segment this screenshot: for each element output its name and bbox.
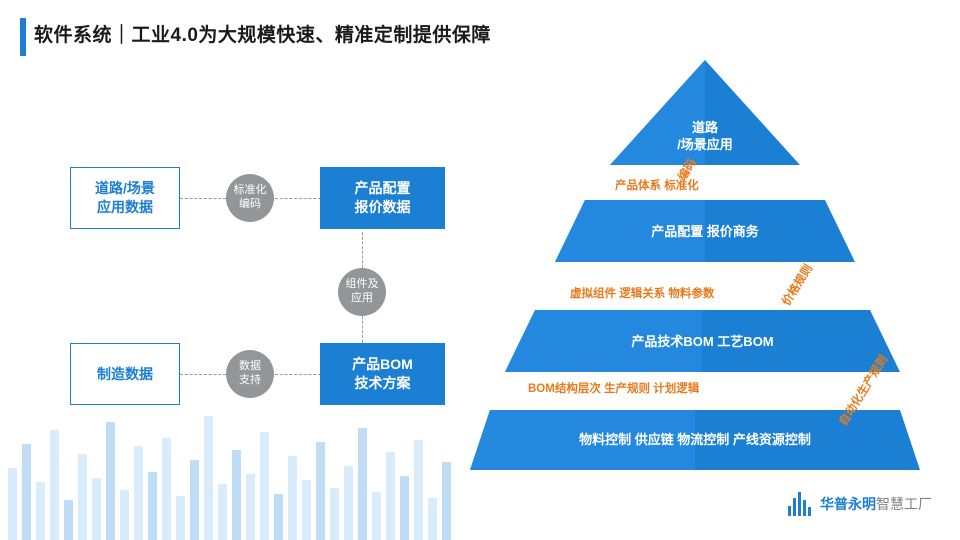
connector-label: 组件及 应用 [346,278,379,306]
connector-data-support[interactable]: 数据 支持 [226,350,274,398]
node-label: 道路/场景 应用数据 [95,179,155,217]
pyramid-annotation-2: 虚拟组件 逻辑关系 物料参数 [570,285,714,301]
pyramid-annotation-3: BOM结构层次 生产规则 计划逻辑 [528,380,699,396]
pyramid-side-label-price-rule: 价格规则 [778,261,816,308]
node-product-bom-tech[interactable]: 产品BOM 技术方案 [320,343,445,405]
connector-line-top-right [275,198,321,199]
node-product-config-quote-data[interactable]: 产品配置 报价数据 [320,167,445,229]
node-road-scene-data[interactable]: 道路/场景 应用数据 [70,167,180,229]
connector-standardization-coding[interactable]: 标准化 编码 [226,174,274,222]
decorative-bar-pattern [0,400,470,540]
logo-bars-icon [788,492,814,516]
pyramid-diagram: 道路 /场景应用 产品体系 标准化 产品配置 报价商务 虚拟组件 逻辑关系 物料… [470,60,940,490]
connector-line-mid-top [362,232,363,268]
pyramid-tier-2-label: 产品配置 报价商务 [555,224,855,241]
connector-label: 数据 支持 [239,360,261,388]
connector-line-bot-left [180,374,226,375]
node-manufacturing-data[interactable]: 制造数据 [70,343,180,405]
page-header: 软件系统｜工业4.0为大规模快速、精准定制提供保障 [0,18,960,64]
logo-sub: 智慧工厂 [876,496,932,512]
brand-logo: 华普永明智慧工厂 [788,492,932,516]
header-accent-bar [20,18,26,56]
pyramid-tier-1-label: 道路 /场景应用 [610,120,800,154]
node-label: 制造数据 [97,365,153,384]
connector-label: 标准化 编码 [234,184,267,212]
flow-diagram: 道路/场景 应用数据 产品配置 报价数据 制造数据 产品BOM 技术方案 标准化… [60,150,480,410]
node-label: 产品配置 报价数据 [355,179,411,217]
logo-text: 华普永明智慧工厂 [820,494,932,514]
pyramid-tier-4-label: 物料控制 供应链 物流控制 产线资源控制 [470,432,920,449]
connector-component-application[interactable]: 组件及 应用 [338,268,386,316]
logo-brand: 华普永明 [820,496,876,512]
page-title: 软件系统｜工业4.0为大规模快速、精准定制提供保障 [34,20,491,47]
connector-line-top-left [180,198,226,199]
node-label: 产品BOM 技术方案 [352,355,413,393]
pyramid-tier-3-label: 产品技术BOM 工艺BOM [505,334,900,351]
connector-line-bot-right [275,374,321,375]
